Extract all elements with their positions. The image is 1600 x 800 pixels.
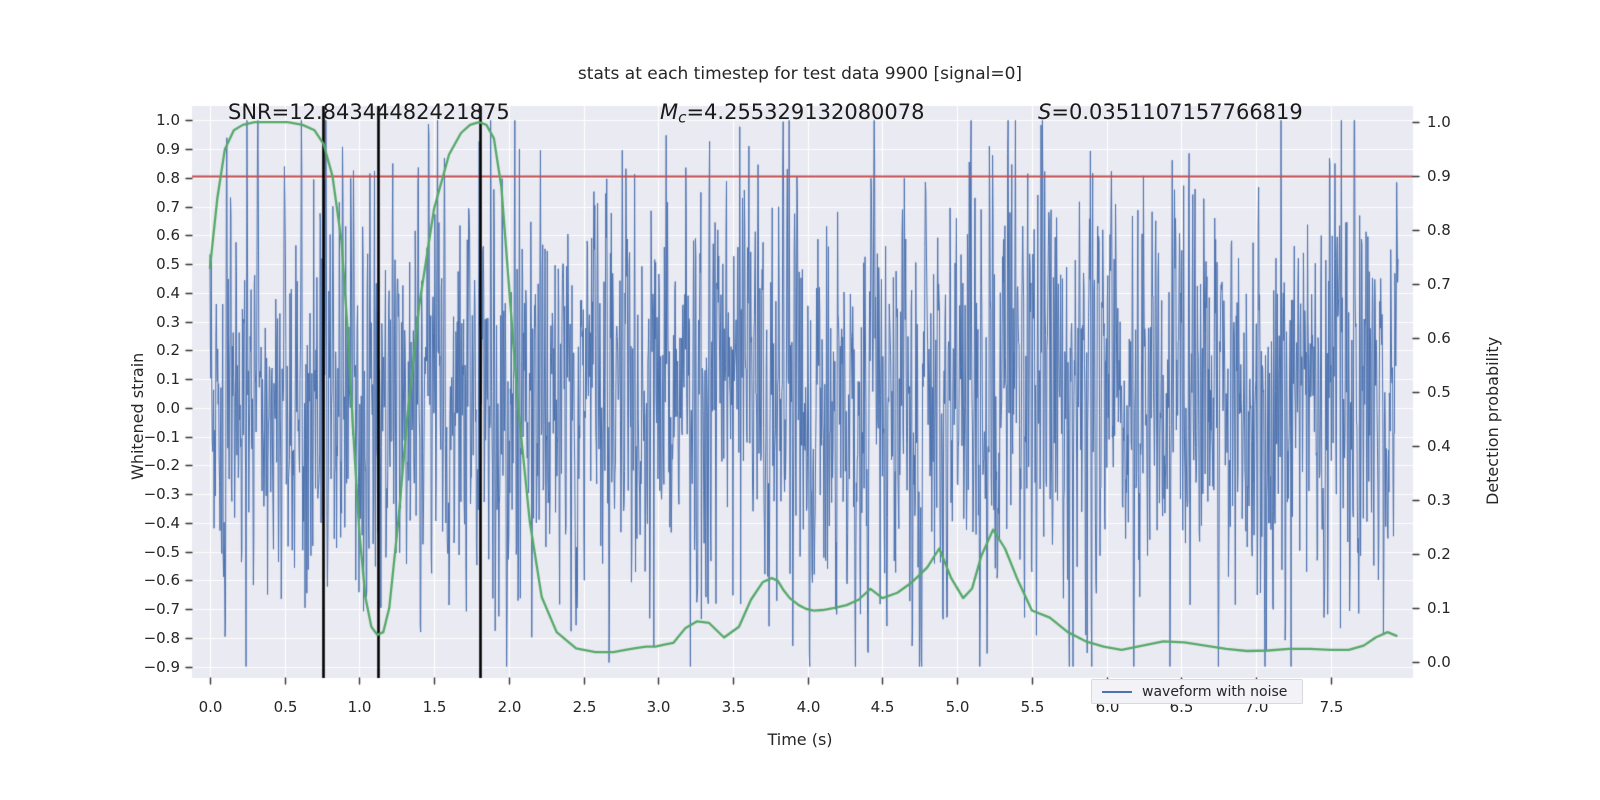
page-title: stats at each timestep for test data 990… xyxy=(0,64,1600,84)
y-tick-right-3: 0.7 xyxy=(1427,275,1479,293)
y-tick-right-1: 0.9 xyxy=(1427,167,1479,185)
x-tick-8: 4.0 xyxy=(783,698,835,716)
y-tick-left-7: 0.3 xyxy=(128,313,180,331)
figure-container: stats at each timestep for test data 990… xyxy=(0,0,1600,800)
annotation-snr-text: SNR=12.84344482421875 xyxy=(228,100,510,124)
annotation-s-equals: = xyxy=(1051,100,1069,124)
y-tick-left-1: 0.9 xyxy=(128,140,180,158)
x-tick-2: 1.0 xyxy=(334,698,386,716)
annotation-chirp-mass: Mc=4.255329132080078 xyxy=(660,100,925,126)
legend[interactable]: waveform with noise xyxy=(1091,679,1303,704)
y-tick-right-8: 0.2 xyxy=(1427,545,1479,563)
y-tick-left-10: 0.0 xyxy=(128,399,180,417)
y-tick-left-8: 0.2 xyxy=(128,341,180,359)
annotation-s-symbol: S xyxy=(1038,100,1051,124)
x-tick-0: 0.0 xyxy=(185,698,237,716)
y-tick-left-16: −0.6 xyxy=(128,571,180,589)
annotation-mc-value: 4.255329132080078 xyxy=(704,100,924,124)
x-axis-label: Time (s) xyxy=(0,730,1600,749)
y-tick-left-14: −0.4 xyxy=(128,514,180,532)
y-tick-right-6: 0.4 xyxy=(1427,437,1479,455)
y-tick-right-9: 0.1 xyxy=(1427,599,1479,617)
x-tick-7: 3.5 xyxy=(708,698,760,716)
y-tick-left-9: 0.1 xyxy=(128,370,180,388)
y-tick-left-0: 1.0 xyxy=(128,111,180,129)
y-tick-left-12: −0.2 xyxy=(128,456,180,474)
y-tick-left-18: −0.8 xyxy=(128,629,180,647)
annotation-mc-symbol: M xyxy=(660,100,678,124)
y-tick-right-10: 0.0 xyxy=(1427,653,1479,671)
y-tick-left-19: −0.9 xyxy=(128,658,180,676)
legend-line-swatch xyxy=(1102,691,1132,693)
x-tick-6: 3.0 xyxy=(633,698,685,716)
y-tick-right-4: 0.6 xyxy=(1427,329,1479,347)
x-tick-9: 4.5 xyxy=(857,698,909,716)
x-tick-15: 7.5 xyxy=(1306,698,1358,716)
y-tick-left-15: −0.5 xyxy=(128,543,180,561)
y-tick-right-7: 0.3 xyxy=(1427,491,1479,509)
annotation-s-value: 0.0351107157766819 xyxy=(1069,100,1303,124)
y-tick-left-4: 0.6 xyxy=(128,226,180,244)
x-tick-1: 0.5 xyxy=(260,698,312,716)
y-tick-right-2: 0.8 xyxy=(1427,221,1479,239)
y-tick-left-3: 0.7 xyxy=(128,198,180,216)
y-tick-left-6: 0.4 xyxy=(128,284,180,302)
x-tick-10: 5.0 xyxy=(932,698,984,716)
legend-label-waveform-with-noise: waveform with noise xyxy=(1142,684,1287,700)
y-tick-right-5: 0.5 xyxy=(1427,383,1479,401)
y-tick-left-17: −0.7 xyxy=(128,600,180,618)
y-tick-left-2: 0.8 xyxy=(128,169,180,187)
annotation-snr: SNR=12.84344482421875 xyxy=(228,100,510,124)
annotation-significance: S=0.0351107157766819 xyxy=(1038,100,1303,124)
y-tick-left-5: 0.5 xyxy=(128,255,180,273)
annotation-mc-equals: = xyxy=(686,100,704,124)
x-tick-3: 1.5 xyxy=(409,698,461,716)
x-tick-11: 5.5 xyxy=(1007,698,1059,716)
y-tick-left-11: −0.1 xyxy=(128,428,180,446)
y-tick-right-0: 1.0 xyxy=(1427,113,1479,131)
y-tick-left-13: −0.3 xyxy=(128,485,180,503)
y-axis-right-label: Detection probability xyxy=(1483,337,1502,505)
x-tick-4: 2.0 xyxy=(484,698,536,716)
x-tick-5: 2.5 xyxy=(559,698,611,716)
